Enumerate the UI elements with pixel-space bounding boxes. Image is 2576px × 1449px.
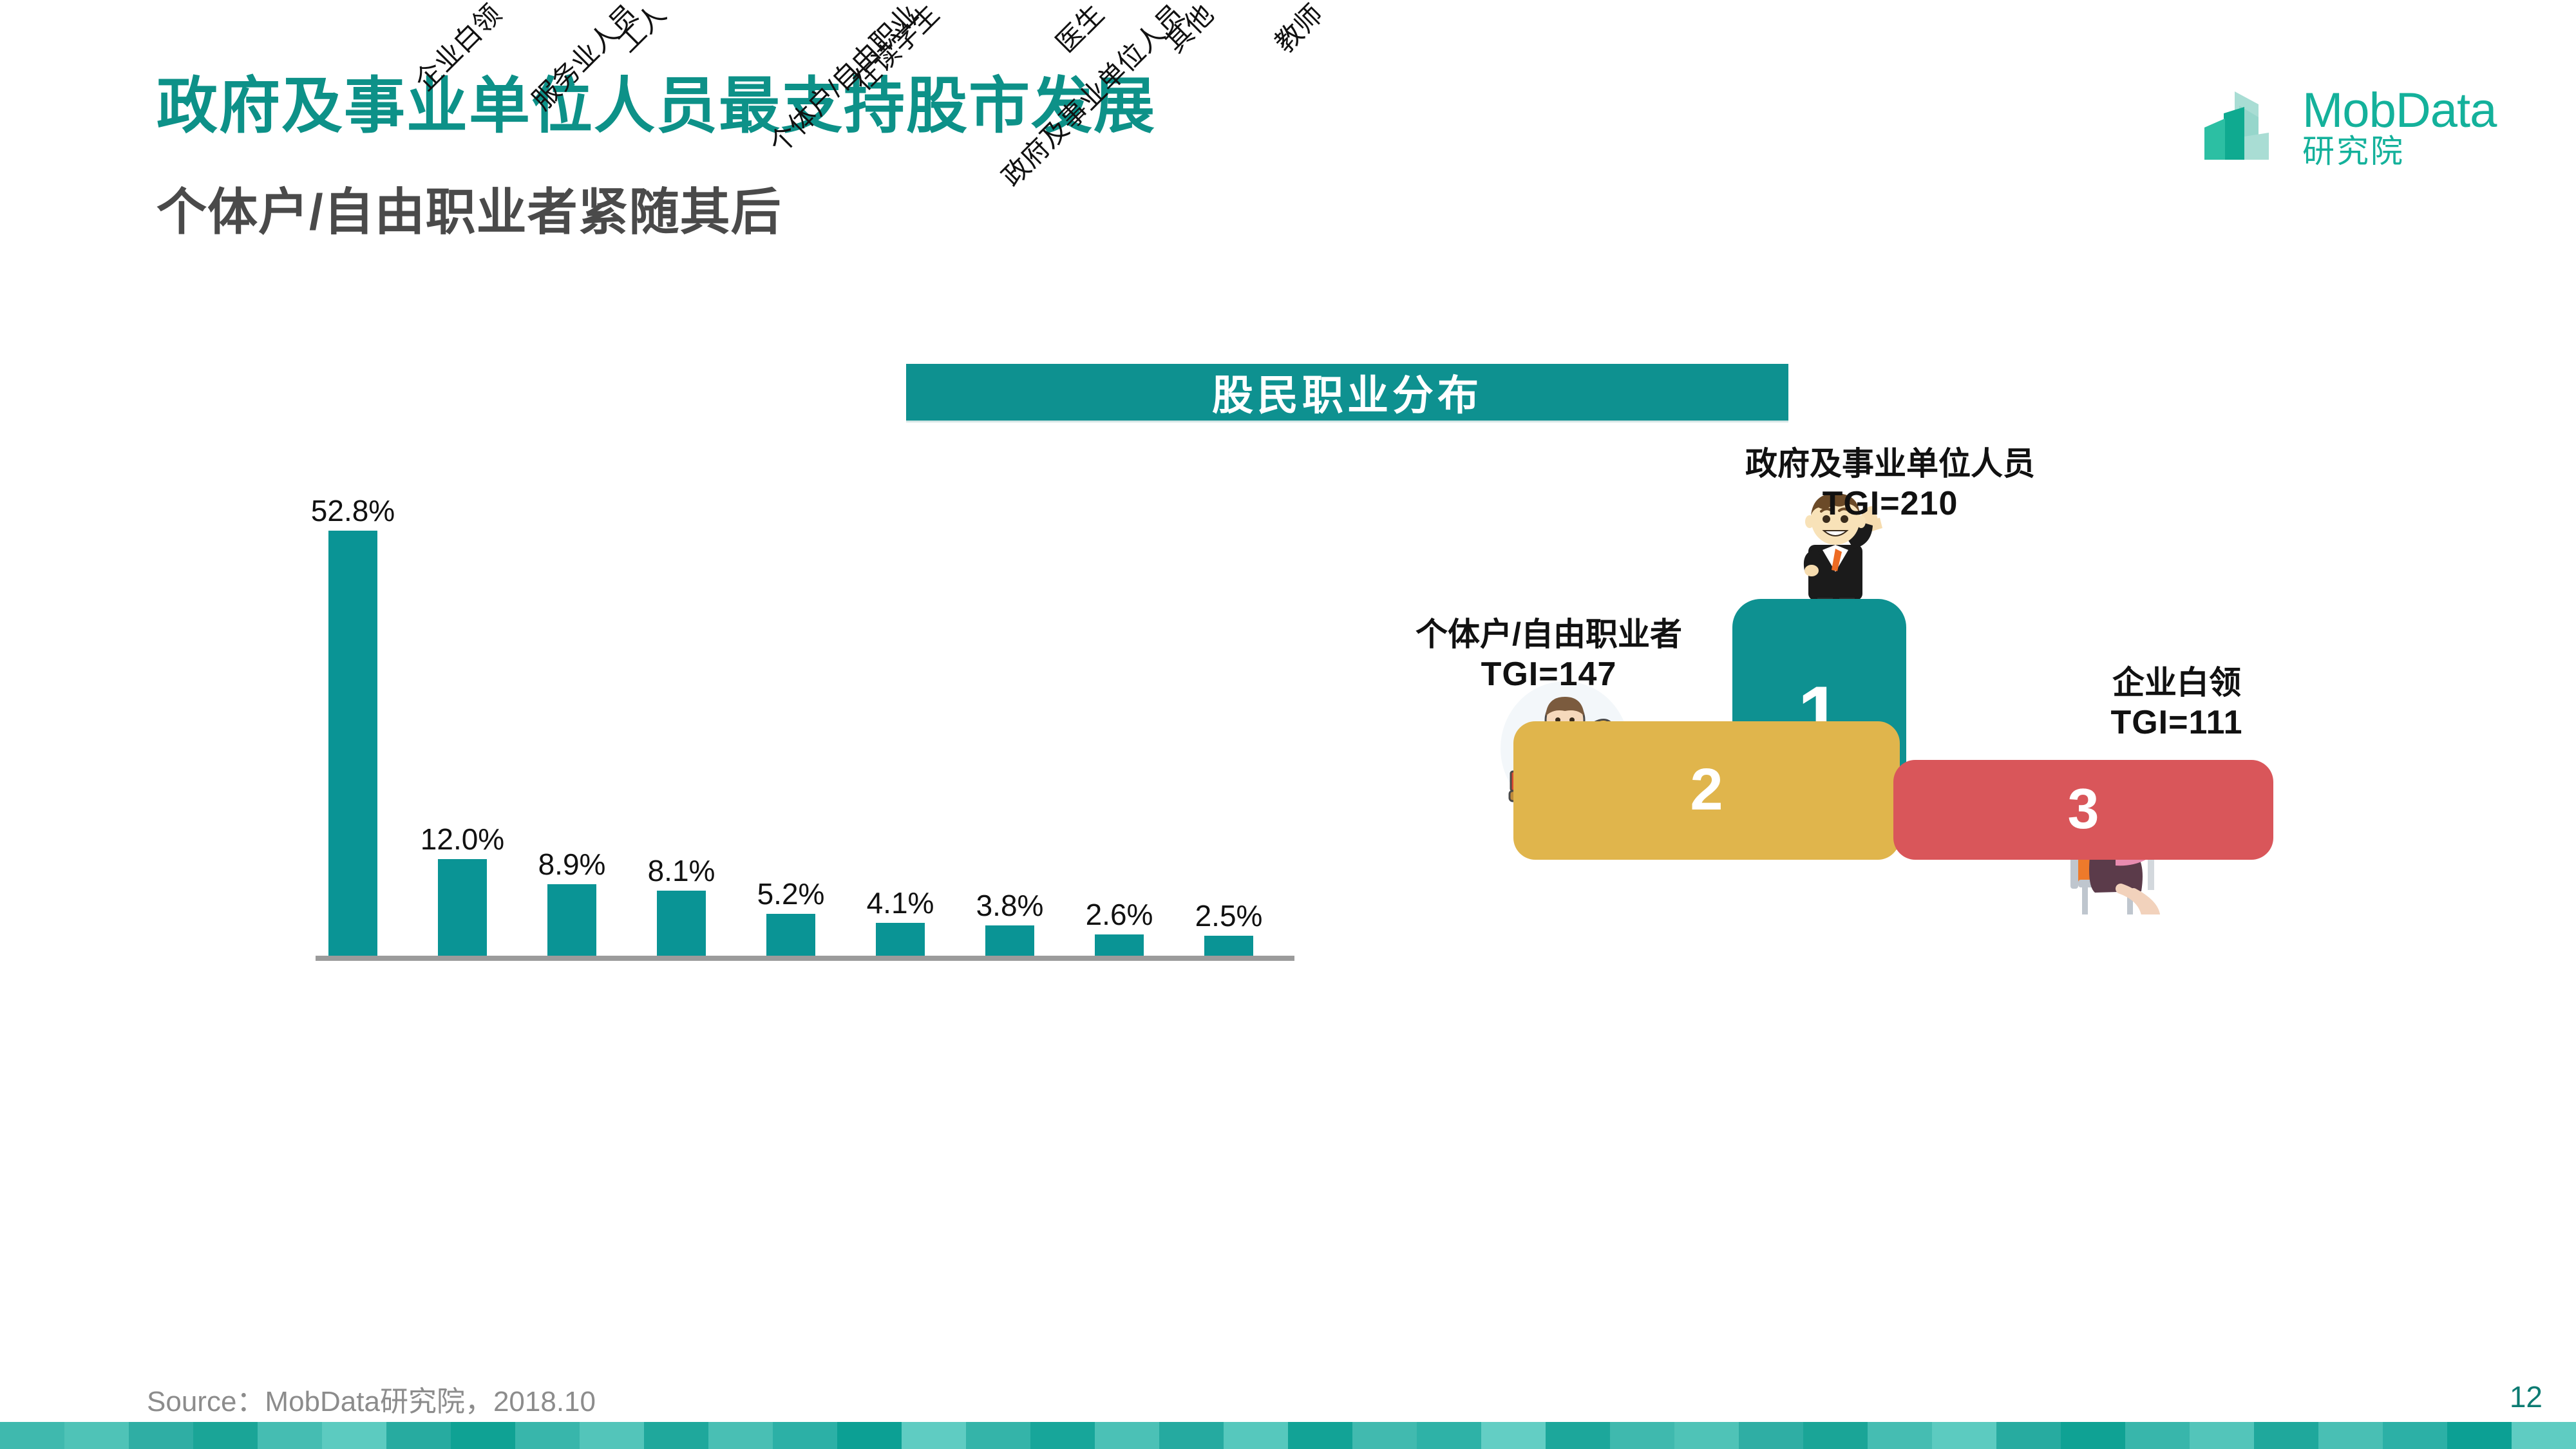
podium-rank-2: 2 (1513, 760, 1900, 819)
footer-stripe (902, 1422, 966, 1449)
footer-stripe (1610, 1422, 1674, 1449)
bar-value-label: 5.2% (757, 879, 825, 909)
footer-stripe (2318, 1422, 2383, 1449)
bar-value-label: 52.8% (311, 496, 395, 526)
bar-value-label: 8.9% (538, 849, 606, 879)
podium-tgi-1: TGI=210 (1636, 484, 2145, 524)
podium-tgi-3: TGI=111 (2009, 703, 2344, 743)
footer-stripe-bar (0, 1422, 2576, 1449)
bar-group[interactable]: 2.5% (1204, 901, 1253, 956)
bar-group[interactable]: 3.8% (985, 891, 1034, 956)
footer-stripe (451, 1422, 515, 1449)
page-number: 12 (2510, 1379, 2543, 1414)
page-subtitle: 个体户/自由职业者紧随其后 (156, 187, 782, 237)
footer-stripe (1030, 1422, 1095, 1449)
logo-text-group: MobData 研究院 (2302, 88, 2496, 169)
footer-stripe (1095, 1422, 1159, 1449)
footer-stripe (1546, 1422, 1610, 1449)
bar-value-label: 2.5% (1195, 901, 1263, 931)
occupation-bar-chart: 52.8%12.0%8.9%8.1%5.2%4.1%3.8%2.6%2.5% (303, 489, 1333, 966)
bar-value-label: 8.1% (648, 856, 715, 885)
bar[interactable] (1095, 934, 1144, 956)
bar-group[interactable]: 8.1% (657, 856, 706, 956)
bar-value-label: 12.0% (421, 824, 504, 854)
footer-stripe (773, 1422, 837, 1449)
bar-group[interactable]: 2.6% (1095, 900, 1144, 956)
chart-plot-area: 52.8%12.0%8.9%8.1%5.2%4.1%3.8%2.6%2.5% (303, 510, 1294, 961)
footer-stripe (966, 1422, 1030, 1449)
chart-title-label: 股民职业分布 (1212, 363, 1482, 422)
bar[interactable] (985, 925, 1034, 956)
bar[interactable] (328, 531, 377, 956)
footer-stripe (1159, 1422, 1224, 1449)
footer-stripe (580, 1422, 644, 1449)
x-axis-label: 医生 (1052, 0, 1109, 57)
chart-title-banner: 股民职业分布 (906, 364, 1788, 421)
footer-stripe (515, 1422, 580, 1449)
podium-name-1: 政府及事业单位人员 (1636, 444, 2145, 484)
logo-cn-label: 研究院 (2302, 134, 2496, 169)
bar[interactable] (876, 923, 925, 956)
tgi-podium: 1 2 3 政府及事业单位人员 TGI=210 个体户/自由职业者 TGI=14… (1385, 451, 2479, 1191)
footer-stripe (2125, 1422, 2190, 1449)
bar-group[interactable]: 4.1% (876, 888, 925, 956)
podium-block-3[interactable]: 3 (1893, 760, 2273, 860)
footer-stripe (1932, 1422, 1996, 1449)
bar[interactable] (547, 884, 596, 956)
bar-group[interactable]: 5.2% (766, 879, 815, 956)
footer-stripe (644, 1422, 708, 1449)
footer-stripe (64, 1422, 129, 1449)
podium-name-2: 个体户/自由职业者 (1314, 615, 1784, 654)
footer-stripe (1739, 1422, 1803, 1449)
footer-stripe (1224, 1422, 1288, 1449)
chart-x-axis-labels: 企业白领服务业人员工人个体户/自由职业在读学生政府及事业单位人员医生其他教师 (303, 0, 1397, 193)
source-note: Source：MobData研究院，2018.10 (147, 1378, 596, 1419)
footer-stripe (2190, 1422, 2254, 1449)
footer-stripe (129, 1422, 193, 1449)
bar-value-label: 2.6% (1086, 900, 1153, 929)
mobdata-logo: MobData 研究院 (2199, 90, 2534, 180)
chart-x-axis (316, 956, 1294, 961)
mobdata-building-logo-icon (2199, 90, 2289, 174)
footer-stripe (193, 1422, 258, 1449)
footer-stripe (2383, 1422, 2447, 1449)
footer-stripe (0, 1422, 64, 1449)
x-axis-label: 服务业人员 (528, 0, 643, 115)
footer-stripe (1803, 1422, 1868, 1449)
bar-value-label: 4.1% (867, 888, 934, 918)
footer-stripe (322, 1422, 386, 1449)
bar[interactable] (657, 891, 706, 956)
footer-stripe (1288, 1422, 1352, 1449)
footer-stripe (837, 1422, 902, 1449)
footer-stripe (1674, 1422, 1739, 1449)
x-axis-label: 教师 (1271, 0, 1328, 57)
podium-caption-2: 个体户/自由职业者 TGI=147 (1314, 615, 1784, 695)
footer-stripe (708, 1422, 773, 1449)
footer-stripe (2254, 1422, 2318, 1449)
podium-tgi-2: TGI=147 (1314, 654, 1784, 695)
slide-root: 政府及事业单位人员最支持股市发展 个体户/自由职业者紧随其后 MobData 研… (0, 0, 2576, 1449)
footer-stripe (2447, 1422, 2512, 1449)
podium-name-3: 企业白领 (2009, 663, 2344, 703)
footer-stripe (258, 1422, 322, 1449)
logo-wordmark: MobData (2302, 88, 2496, 134)
footer-stripe (1352, 1422, 1417, 1449)
bar-group[interactable]: 12.0% (438, 824, 487, 956)
bar[interactable] (438, 859, 487, 956)
footer-stripe (386, 1422, 451, 1449)
footer-stripe (1996, 1422, 2061, 1449)
bar[interactable] (1204, 936, 1253, 956)
bar-value-label: 3.8% (976, 891, 1044, 920)
footer-stripe (2512, 1422, 2576, 1449)
bar-group[interactable]: 8.9% (547, 849, 596, 956)
podium-caption-1: 政府及事业单位人员 TGI=210 (1636, 444, 2145, 524)
bar-group[interactable]: 52.8% (328, 496, 377, 956)
footer-stripe (1417, 1422, 1481, 1449)
x-axis-label: 企业白领 (410, 0, 506, 96)
podium-block-2[interactable]: 2 (1513, 721, 1900, 860)
footer-stripe (1481, 1422, 1546, 1449)
podium-caption-3: 企业白领 TGI=111 (2009, 663, 2344, 743)
footer-stripe (2061, 1422, 2125, 1449)
podium-rank-3: 3 (1893, 781, 2273, 837)
bar[interactable] (766, 914, 815, 956)
footer-stripe (1868, 1422, 1932, 1449)
